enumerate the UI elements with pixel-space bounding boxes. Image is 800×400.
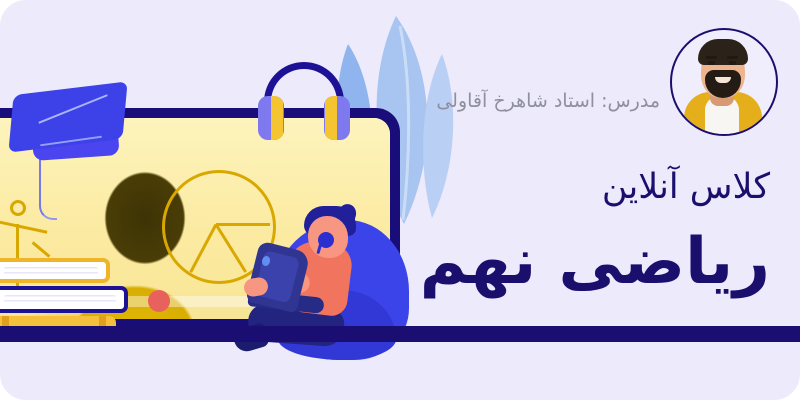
title-underline-bar: [0, 326, 800, 342]
course-banner: مدرس: استاد شاهرخ آقاولی کلاس آنلاین ریا…: [0, 0, 800, 400]
course-subtitle: کلاس آنلاین: [602, 166, 770, 210]
course-title: ریاضی نهم: [420, 224, 770, 301]
avatar-brow-left: [706, 56, 717, 59]
book-pages: [4, 295, 116, 304]
headphone-cup-right: [324, 96, 350, 140]
book-top: [0, 258, 110, 283]
graduation-cap-icon: [12, 88, 142, 168]
book-pages: [4, 267, 98, 274]
avatar-brow-right: [727, 56, 738, 59]
instructor-avatar: [670, 28, 778, 136]
headphones-icon: [258, 62, 350, 138]
video-playhead[interactable]: [148, 290, 170, 312]
book-middle: [0, 286, 128, 313]
avatar-eye-left: [708, 61, 715, 65]
instructor-label: مدرس: استاد شاهرخ آقاولی: [436, 90, 660, 112]
avatar-hair: [698, 39, 748, 65]
avatar-eye-right: [729, 61, 736, 65]
headphone-cup-left: [258, 96, 284, 140]
